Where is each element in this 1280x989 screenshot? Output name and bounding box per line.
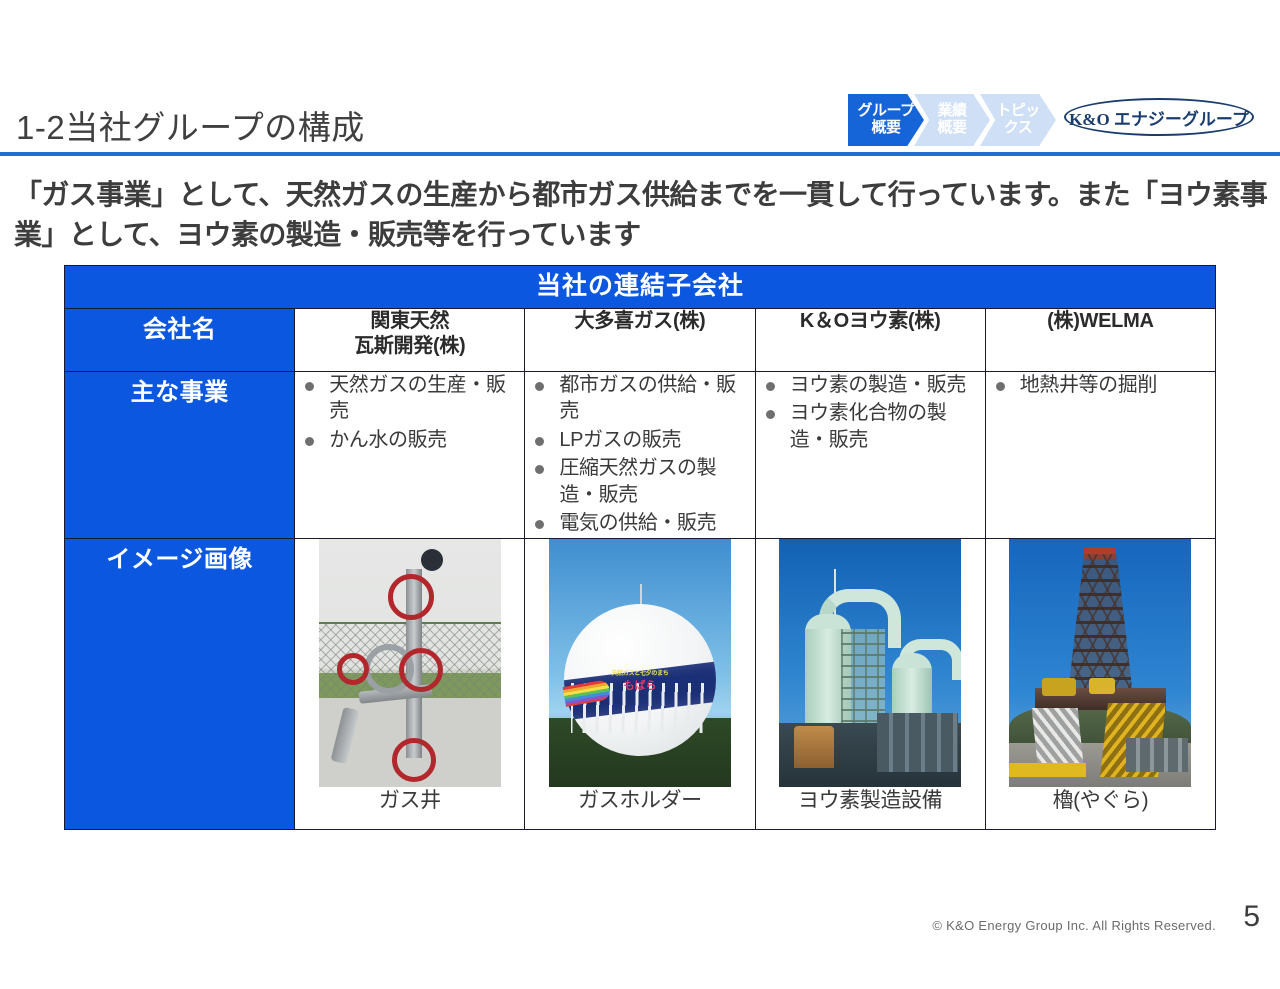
company-name-line1: 大多喜ガス(株) [525, 309, 754, 334]
company-name-line1: (株)WELMA [986, 309, 1215, 334]
nav-tab-label-line2: 概要 [871, 120, 900, 137]
nav-tab-label-line1: グループ [857, 103, 914, 120]
table-banner-row: 当社の連結子会社 [65, 266, 1216, 309]
business-cell-welma: 地熱井等の掘削 [985, 372, 1215, 539]
title-divider [0, 152, 1280, 156]
photo-valve-wheel [399, 648, 443, 692]
image-cell-gas-holder: 天然ガスと七夕のまち もばら ガスホルダー [525, 539, 755, 830]
business-list: 地熱井等の掘削 [986, 372, 1215, 398]
image-cell-iodine-plant: ヨウ素製造設備 [755, 539, 985, 830]
table-row-main-business: 主な事業 天然ガスの生産・販売 かん水の販売 都市ガスの供給・販売 LPガスの販… [65, 372, 1216, 539]
nav-tab-label-line1: トピッ [996, 103, 1040, 120]
photo-yellow-beam [1009, 763, 1085, 777]
photo-storage-tank [794, 726, 834, 768]
iodine-plant-photo [779, 539, 961, 787]
list-item: 天然ガスの生産・販売 [295, 372, 524, 425]
company-cell-welma: (株)WELMA [985, 309, 1215, 372]
company-cell-kanto: 関東天然 瓦斯開発(株) [295, 309, 525, 372]
image-cell-gas-well: ガス井 [295, 539, 525, 830]
company-cell-ko-iodine: K＆Oヨウ素(株) [755, 309, 985, 372]
business-cell-kanto: 天然ガスの生産・販売 かん水の販売 [295, 372, 525, 539]
company-cell-otaki: 大多喜ガス(株) [525, 309, 755, 372]
row-label-image: イメージ画像 [65, 539, 295, 830]
table-banner: 当社の連結子会社 [65, 266, 1216, 309]
business-list: 都市ガスの供給・販売 LPガスの販売 圧縮天然ガスの製造・販売 電気の供給・販売 [525, 372, 754, 536]
nav-tab-topics[interactable]: トピッ クス [980, 94, 1056, 146]
photo-pipe-stack [1126, 738, 1188, 773]
page-number: 5 [1243, 900, 1260, 934]
business-list: ヨウ素の製造・販売 ヨウ素化合物の製造・販売 [756, 372, 985, 453]
photo-valve-wheel [392, 738, 436, 782]
photo-valve-wheel [388, 574, 434, 620]
company-name-line2: 瓦斯開発(株) [295, 334, 524, 359]
company-name-line1: K＆Oヨウ素(株) [756, 309, 985, 334]
list-item: 圧縮天然ガスの製造・販売 [525, 455, 754, 508]
photo-equipment-row [877, 713, 957, 773]
image-cell-drilling-rig: 櫓(やぐら) [985, 539, 1215, 830]
business-cell-otaki: 都市ガスの供給・販売 LPガスの販売 圧縮天然ガスの製造・販売 電気の供給・販売 [525, 372, 755, 539]
list-item: LPガスの販売 [525, 427, 754, 453]
mural-text-bottom: もばら [588, 677, 692, 693]
nav-tab-performance-overview[interactable]: 業績 概要 [914, 94, 990, 146]
nav-tab-label-line2: 概要 [937, 120, 966, 137]
photo-gauge [421, 549, 443, 571]
photo-rig-equipment [1089, 678, 1115, 694]
drilling-rig-photo [1009, 539, 1191, 787]
nav-tab-label-line2: クス [1004, 120, 1033, 137]
business-cell-ko-iodine: ヨウ素の製造・販売 ヨウ素化合物の製造・販売 [755, 372, 985, 539]
page-title: 1-2当社グループの構成 [16, 101, 365, 149]
list-item: かん水の販売 [295, 427, 524, 453]
subsidiary-table: 当社の連結子会社 会社名 関東天然 瓦斯開発(株) 大多喜ガス(株) K＆Oヨウ… [64, 265, 1216, 830]
footer-copyright: © K&O Energy Group Inc. All Rights Reser… [932, 918, 1216, 933]
list-item: ヨウ素の製造・販売 [756, 372, 985, 398]
list-item: 都市ガスの供給・販売 [525, 372, 754, 425]
list-item: ヨウ素化合物の製造・販売 [756, 400, 985, 453]
row-label-company-name: 会社名 [65, 309, 295, 372]
photo-caption: ガスホルダー [525, 789, 754, 812]
nav-tabs: グループ 概要 業績 概要 トピッ クス [848, 94, 1046, 146]
photo-caption: ヨウ素製造設備 [756, 789, 985, 812]
photo-caption: 櫓(やぐら) [986, 789, 1215, 812]
business-list: 天然ガスの生産・販売 かん水の販売 [295, 372, 524, 453]
photo-mural-text: 天然ガスと七夕のまち もばら [588, 668, 692, 693]
nav-tab-group-overview[interactable]: グループ 概要 [848, 94, 924, 146]
list-item: 地熱井等の掘削 [986, 372, 1215, 398]
table-row-image: イメージ画像 ガス井 [65, 539, 1216, 830]
photo-rig-equipment [1042, 678, 1076, 696]
list-item: 電気の供給・販売 [525, 510, 754, 536]
photo-caption: ガス井 [295, 789, 524, 812]
lead-paragraph: 「ガス事業」として、天然ガスの生産から都市ガス供給までを一貫して行っています。ま… [14, 175, 1270, 255]
gas-holder-photo: 天然ガスと七夕のまち もばら [549, 539, 731, 787]
mural-text-top: 天然ガスと七夕のまち [588, 668, 692, 677]
nav-tab-label-line1: 業績 [937, 103, 966, 120]
brand-logo: K&O エナジーグループ [1064, 98, 1254, 136]
table-row-company-name: 会社名 関東天然 瓦斯開発(株) 大多喜ガス(株) K＆Oヨウ素(株) (株)W… [65, 309, 1216, 372]
row-label-main-business: 主な事業 [65, 372, 295, 539]
gas-well-photo [319, 539, 501, 787]
company-name-line1: 関東天然 [295, 309, 524, 334]
